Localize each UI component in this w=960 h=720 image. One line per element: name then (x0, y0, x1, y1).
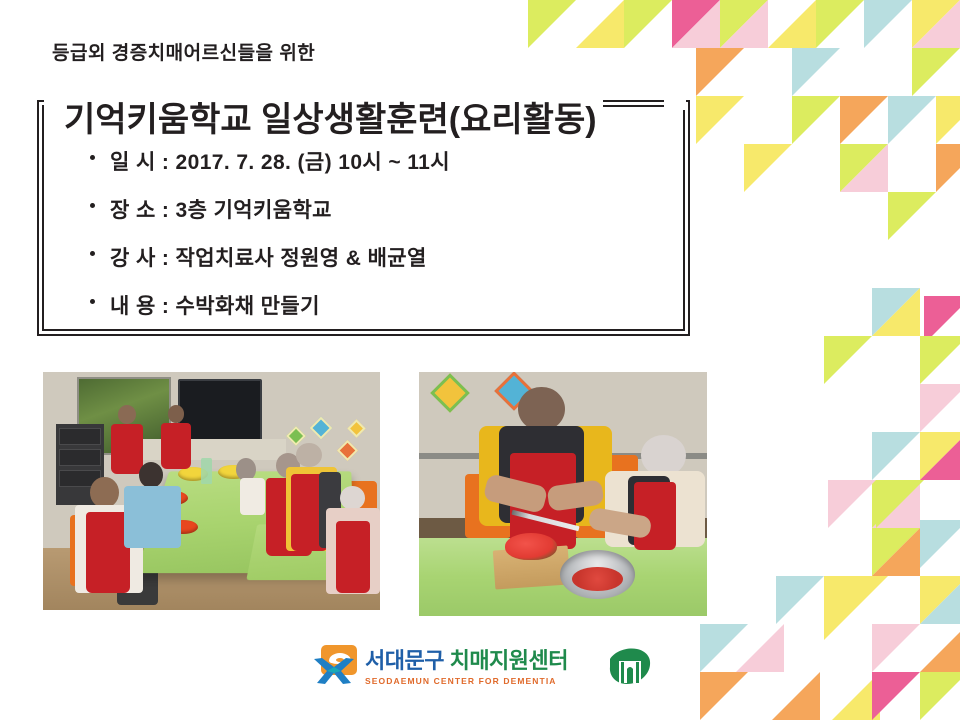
head (236, 458, 255, 481)
list-item: 내 용 : 수박화채 만들기 (88, 290, 668, 320)
decorative-triangle (888, 192, 936, 240)
decorative-triangle (840, 144, 888, 192)
logo-person-shape (313, 657, 355, 685)
decorative-triangle (772, 672, 820, 720)
person (228, 458, 268, 515)
decorative-triangle (840, 144, 888, 192)
detail-list: 일 시 : 2017. 7. 28. (금) 10시 ~ 11시 장 소 : 3… (88, 146, 668, 338)
shirt (240, 478, 264, 515)
decorative-triangle (920, 520, 960, 568)
decorative-triangle (816, 0, 864, 48)
decorative-triangle (920, 336, 960, 384)
decorative-triangle (864, 0, 912, 48)
decorative-triangle (920, 672, 960, 720)
head (168, 405, 184, 422)
decorative-triangle (736, 624, 784, 672)
shirt (124, 486, 181, 548)
beverage-bottle (201, 458, 212, 484)
decorative-triangle (744, 144, 792, 192)
decorative-triangle (872, 672, 920, 720)
decorative-triangle (912, 0, 960, 48)
decorative-triangle (528, 0, 576, 48)
logo-name-korean: 서대문구 치매지원센터 (365, 643, 603, 675)
watermelon-cutting-photo (419, 372, 707, 616)
decorative-triangle (872, 528, 920, 576)
decorative-triangle (872, 288, 920, 336)
bullet-dot-icon (90, 251, 95, 256)
decorative-triangle (828, 480, 876, 528)
detail-text: 강 사 : 작업치료사 정원영 & 배균열 (110, 247, 427, 270)
decorative-triangle (700, 672, 748, 720)
logo-name-center: 치매지원센터 (450, 648, 568, 673)
decorative-triangle (920, 576, 960, 624)
frame-gap-left (44, 96, 64, 110)
head (518, 387, 565, 432)
detail-text: 일 시 : 2017. 7. 28. (금) 10시 ~ 11시 (110, 151, 450, 174)
decorative-triangle (832, 672, 880, 720)
logo-name-english: SEODAEMUN CENTER FOR DEMENTIA (365, 676, 603, 686)
decorative-triangle (824, 576, 888, 640)
decorative-triangle (768, 0, 816, 48)
person (326, 486, 380, 595)
decorative-triangle (872, 480, 920, 528)
bullet-dot-icon (90, 203, 95, 208)
person-assisting (603, 435, 707, 572)
decorative-triangle (696, 48, 744, 96)
decorative-triangle (776, 576, 824, 624)
bullet-dot-icon (90, 155, 95, 160)
decorative-triangle (872, 432, 920, 480)
decorative-triangle (824, 336, 872, 384)
decorative-triangle (920, 432, 960, 480)
logo-text-block: 서대문구 치매지원센터 SEODAEMUN CENTER FOR DEMENTI… (365, 643, 603, 686)
decorative-triangle (624, 0, 672, 48)
head (296, 443, 322, 467)
logo-name-district: 서대문구 (365, 648, 450, 673)
decorative-triangle (936, 144, 960, 192)
list-item: 강 사 : 작업치료사 정원영 & 배균열 (88, 242, 668, 272)
decorative-triangle (936, 96, 960, 144)
decorative-triangle (912, 0, 960, 48)
organization-logo: 서대문구 치매지원센터 SEODAEMUN CENTER FOR DEMENTI… (313, 643, 663, 691)
decorative-triangle (840, 96, 888, 144)
decorative-triangle (672, 0, 720, 48)
frame-gap-right (664, 96, 686, 110)
decorative-triangle (720, 0, 768, 48)
decorative-triangle (872, 624, 920, 672)
decorative-triangle (920, 624, 960, 672)
watermelon-slice (505, 533, 557, 560)
decorative-triangle (696, 96, 744, 144)
list-item: 일 시 : 2017. 7. 28. (금) 10시 ~ 11시 (88, 146, 668, 176)
head (118, 405, 136, 424)
decorative-triangle (672, 0, 720, 48)
decorative-triangle (876, 480, 924, 528)
group-activity-photo (43, 372, 380, 610)
watermelon-chunks (572, 567, 623, 591)
decorative-triangle (792, 96, 840, 144)
detail-text: 장 소 : 3층 기억키움학교 (110, 199, 332, 222)
red-apron (336, 521, 371, 593)
decorative-triangle (924, 296, 960, 344)
decorative-triangle (792, 48, 840, 96)
list-item: 장 소 : 3층 기억키움학교 (88, 194, 668, 224)
decorative-triangle (872, 528, 920, 576)
decorative-triangle (872, 288, 920, 336)
decorative-triangle (872, 480, 920, 528)
person (124, 462, 181, 548)
poster-subtitle: 등급외 경증치매어르신들을 위한 (52, 38, 315, 65)
decorative-triangle (920, 576, 960, 624)
decorative-triangle (576, 0, 624, 48)
detail-text: 내 용 : 수박화채 만들기 (110, 295, 320, 318)
independence-gate-icon (607, 643, 653, 689)
head (139, 462, 163, 488)
decorative-triangle (920, 384, 960, 432)
head (340, 486, 365, 510)
steel-mixing-bowl (560, 550, 635, 599)
bullet-dot-icon (90, 299, 95, 304)
head (90, 477, 118, 508)
bird-figure-icon (313, 645, 357, 685)
decorative-triangle (888, 96, 936, 144)
poster-canvas: 등급외 경증치매어르신들을 위한 기억키움학교 일상생활훈련(요리활동) 일 시… (0, 0, 960, 720)
decorative-triangle (720, 0, 768, 48)
decorative-triangle (700, 624, 748, 672)
decorative-triangle (912, 48, 960, 96)
poster-title: 기억키움학교 일상생활훈련(요리활동) (58, 92, 603, 141)
decorative-triangle (920, 432, 960, 480)
